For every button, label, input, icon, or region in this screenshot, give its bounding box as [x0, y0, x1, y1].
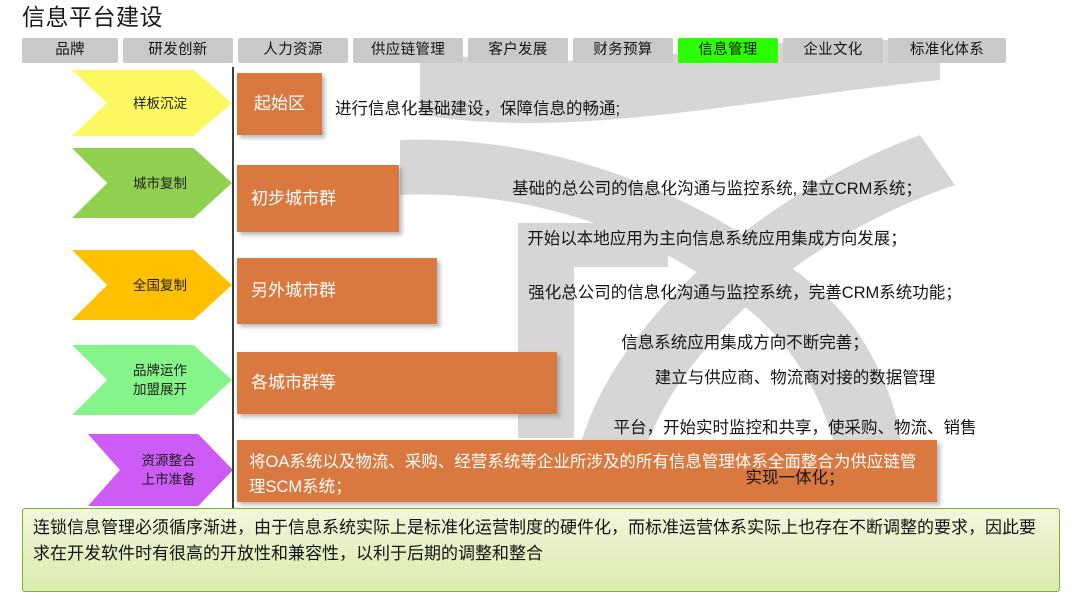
- tab-customer-growth[interactable]: 客户发展: [468, 38, 568, 63]
- tab-supply-chain[interactable]: 供应链管理: [353, 38, 463, 63]
- slide-canvas: 信息平台建设 品牌 研发创新 人力资源 供应链管理 客户发展 财务预算 信息管理…: [0, 0, 1080, 596]
- stage-box-1: 起始区: [237, 73, 322, 135]
- stage-box-2: 初步城市群: [237, 165, 399, 232]
- summary-text: 连锁信息管理必须循序渐进，由于信息系统实际上是标准化运营制度的硬件化，而标准运营…: [33, 518, 1036, 563]
- category-tab-bar[interactable]: 品牌 研发创新 人力资源 供应链管理 客户发展 财务预算 信息管理 企业文化 标…: [22, 38, 1006, 63]
- stage-box-1-label: 起始区: [254, 93, 305, 115]
- tab-corporate-culture[interactable]: 企业文化: [783, 38, 883, 63]
- tab-finance-budget[interactable]: 财务预算: [573, 38, 673, 63]
- stage-description-4: 建立与供应商、物流商对接的数据管理 平台，开始实时监控和共享，使采购、物流、销售…: [560, 341, 1030, 516]
- stage-description-1-line-1: 进行信息化基础建设，保障信息的畅通;: [335, 97, 785, 122]
- stage-description-2-line-1: 基础的总公司的信息化沟通与监控系统, 建立CRM系统；: [412, 177, 1022, 202]
- stage-description-4-line-1: 建立与供应商、物流商对接的数据管理: [560, 366, 1030, 391]
- phase-chevron-1: 样板沉淀: [72, 70, 232, 136]
- stage-box-3: 另外城市群: [237, 258, 437, 324]
- phase-chevron-2: 城市复制: [72, 148, 232, 218]
- tab-information-management[interactable]: 信息管理: [678, 38, 778, 63]
- phase-chevron-4-line-1: 品牌运作: [133, 361, 187, 380]
- tab-standardization[interactable]: 标准化体系: [888, 38, 1006, 63]
- phase-chevron-3: 全国复制: [72, 250, 232, 320]
- stage-description-4-line-2: 平台，开始实时监控和共享，使采购、物流、销售: [560, 416, 1030, 441]
- phase-chevron-3-line-1: 全国复制: [133, 276, 187, 295]
- phase-chevron-4: 品牌运作 加盟展开: [72, 345, 232, 415]
- phase-chevron-5-line-1: 资源整合: [142, 451, 196, 470]
- stage-box-3-label: 另外城市群: [251, 280, 336, 302]
- summary-callout: 连锁信息管理必须循序渐进，由于信息系统实际上是标准化运营制度的硬件化，而标准运营…: [22, 508, 1060, 592]
- phase-chevron-1-line-1: 样板沉淀: [133, 94, 187, 113]
- phase-chevron-4-line-2: 加盟展开: [133, 380, 187, 399]
- page-title: 信息平台建设: [22, 2, 163, 32]
- phase-chevron-5: 资源整合 上市准备: [88, 434, 233, 506]
- stage-description-1: 进行信息化基础建设，保障信息的畅通;: [335, 72, 785, 147]
- stage-description-3-line-1: 强化总公司的信息化沟通与监控系统，完善CRM系统功能；: [455, 281, 1035, 306]
- stage-box-2-label: 初步城市群: [251, 188, 336, 210]
- stage-description-2-line-2: 开始以本地应用为主向信息系统应用集成方向发展；: [412, 227, 1022, 252]
- stage-description-4-line-3: 实现一体化；: [560, 466, 1030, 491]
- tab-human-resources[interactable]: 人力资源: [238, 38, 348, 63]
- tab-brand[interactable]: 品牌: [22, 38, 118, 63]
- vertical-divider: [232, 67, 234, 509]
- stage-box-4-label: 各城市群等: [251, 372, 336, 394]
- tab-rd-innovation[interactable]: 研发创新: [123, 38, 233, 63]
- phase-chevron-2-line-1: 城市复制: [133, 174, 187, 193]
- phase-chevron-5-line-2: 上市准备: [142, 470, 196, 489]
